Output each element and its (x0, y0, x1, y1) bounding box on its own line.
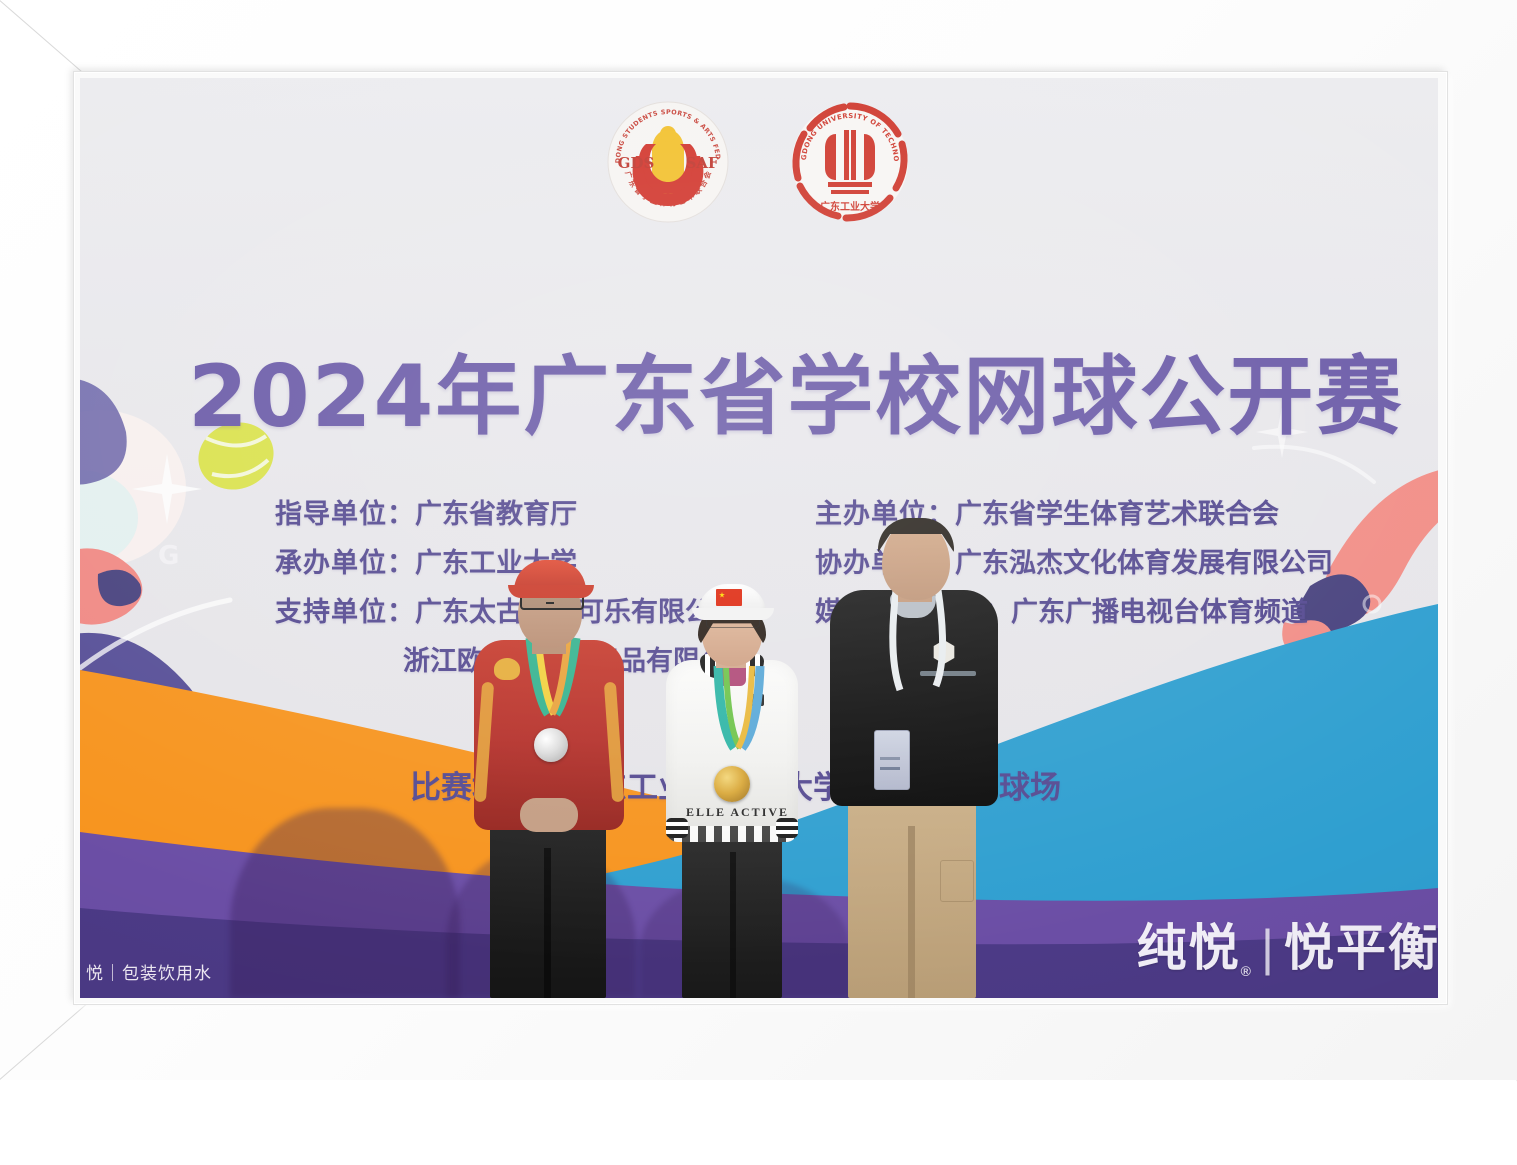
left-man-cap-brim (508, 585, 594, 598)
right-man-id-badge-line (880, 767, 900, 770)
right-man-lanyard (872, 588, 962, 740)
left-man-pants-gap (544, 848, 551, 998)
left-man-silver-medal (534, 728, 568, 762)
person-center: ELLE ACTIVE (652, 598, 812, 998)
person-left (458, 578, 638, 998)
person-right (820, 528, 1010, 998)
right-man-id-badge (874, 730, 910, 790)
frame-miter-bottom-left (0, 1001, 91, 1080)
picture-frame: G (0, 0, 1517, 1080)
frame-miter-top-left (0, 0, 91, 79)
left-man-glasses-bridge (546, 602, 554, 604)
center-woman-cuff-right (776, 818, 798, 838)
center-woman-gold-medal (714, 766, 750, 802)
left-man-hands (520, 798, 578, 832)
chinese-flag-icon (716, 589, 742, 606)
right-man-id-badge-line2 (880, 757, 900, 760)
ceremony-photograph: G (80, 78, 1438, 998)
center-woman-medal-ribbon (692, 664, 784, 780)
center-woman-pants-gap (730, 852, 736, 998)
shadow-left (230, 808, 460, 998)
right-man-pants-gap (908, 826, 915, 998)
center-woman-cap-brim (692, 608, 774, 620)
center-woman-cuff-left (666, 818, 688, 838)
people-group: ELLE ACTIVE (80, 78, 1438, 998)
jacket-text: ELLE ACTIVE (686, 805, 789, 820)
right-man-cargo-pocket (940, 860, 974, 902)
